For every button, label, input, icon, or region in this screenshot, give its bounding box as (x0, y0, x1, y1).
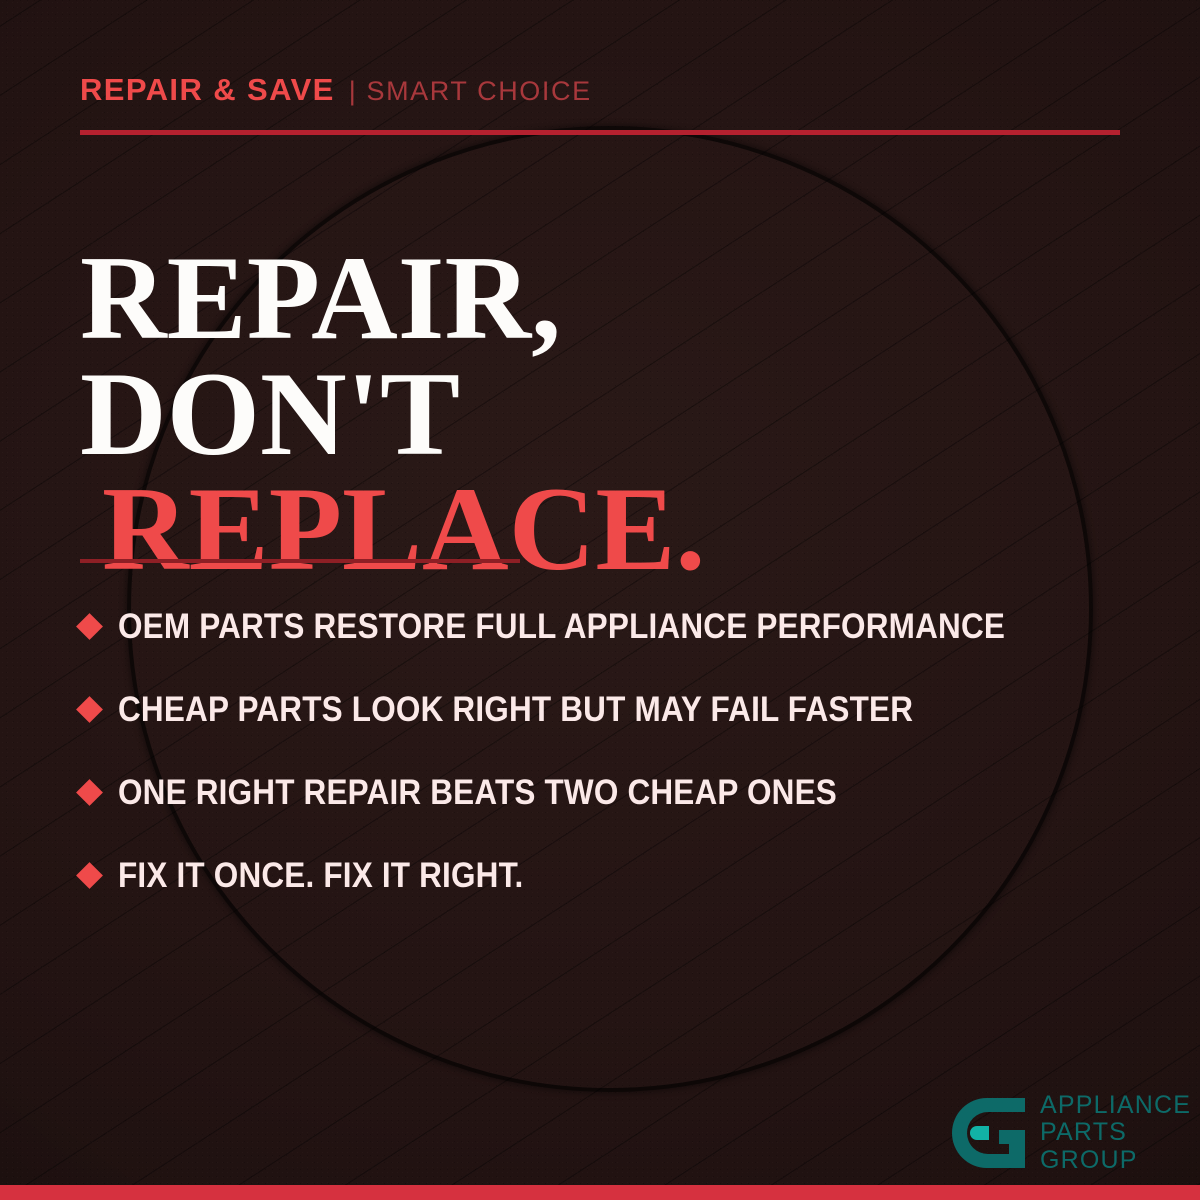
list-item: OEM PARTS RESTORE FULL APPLIANCE PERFORM… (80, 585, 1150, 668)
eyebrow: REPAIR & SAVE | SMART CHOICE (80, 74, 592, 105)
list-item: ONE RIGHT REPAIR BEATS TWO CHEAP ONES (80, 751, 1150, 834)
brand-logo: APPLIANCE PARTS GROUP (947, 1092, 1191, 1174)
eyebrow-sub-label: | SMART CHOICE (349, 78, 592, 105)
bullets-divider-rule (80, 559, 520, 563)
page-title: REPAIR, DON'T REPLACE. (80, 240, 1140, 586)
diamond-bullet-icon (76, 779, 103, 806)
header-divider-rule (80, 130, 1120, 135)
poster-content: REPAIR & SAVE | SMART CHOICE REPAIR, DON… (0, 0, 1200, 1200)
brand-logo-wordmark: APPLIANCE PARTS GROUP (1040, 1093, 1191, 1174)
list-item-label: ONE RIGHT REPAIR BEATS TWO CHEAP ONES (118, 775, 837, 810)
benefits-list: OEM PARTS RESTORE FULL APPLIANCE PERFORM… (80, 585, 1150, 917)
brand-logo-line-1: APPLIANCE (1040, 1093, 1191, 1119)
list-item: FIX IT ONCE. FIX IT RIGHT. (80, 834, 1150, 917)
list-item-label: CHEAP PARTS LOOK RIGHT BUT MAY FAIL FAST… (118, 692, 913, 727)
list-item: CHEAP PARTS LOOK RIGHT BUT MAY FAIL FAST… (80, 668, 1150, 751)
list-item-label: OEM PARTS RESTORE FULL APPLIANCE PERFORM… (118, 609, 1005, 644)
diamond-bullet-icon (76, 862, 103, 889)
headline-line-3: REPLACE. (80, 471, 1140, 586)
brand-logo-line-3: GROUP (1040, 1148, 1191, 1174)
poster-canvas: REPAIR & SAVE | SMART CHOICE REPAIR, DON… (0, 0, 1200, 1200)
diamond-bullet-icon (76, 696, 103, 723)
eyebrow-main-label: REPAIR & SAVE (80, 74, 335, 105)
diamond-bullet-icon (76, 613, 103, 640)
headline-line-2: DON'T (80, 356, 1140, 471)
headline-line-1: REPAIR, (80, 240, 1140, 355)
brand-logo-line-2: PARTS (1040, 1120, 1191, 1146)
list-item-label: FIX IT ONCE. FIX IT RIGHT. (118, 858, 523, 893)
bottom-accent-bar (0, 1185, 1200, 1200)
g-monogram-icon (947, 1092, 1029, 1174)
